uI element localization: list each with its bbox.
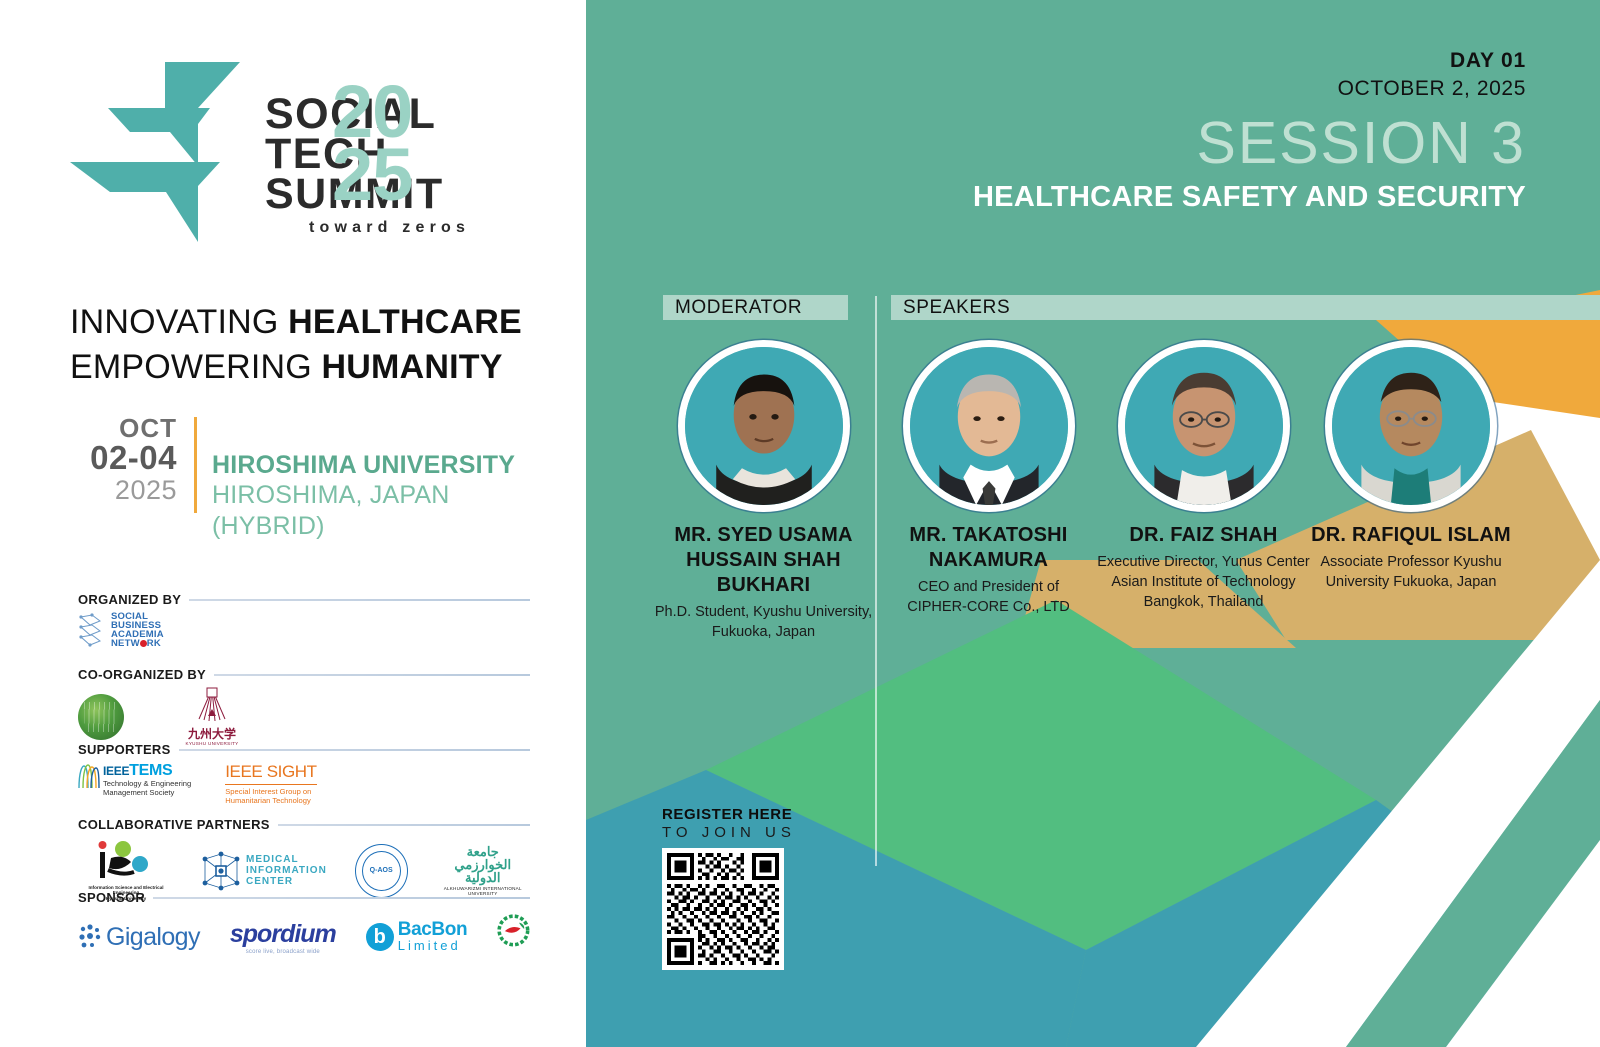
speaker-name-3: DR. RAFIQUL ISLAM: [1311, 523, 1511, 548]
date-venue-block: OCT 02-04 2025 HIROSHIMA UNIVERSITY HIRO…: [72, 415, 552, 515]
speakers-label-bar: SPEAKERS: [891, 295, 1600, 320]
sight-text: SIGHT: [267, 762, 317, 781]
collaborative-partners-header: COLLABORATIVE PARTNERS: [78, 817, 530, 832]
medical-information-center-logo: MEDICAL INFORMATION CENTER: [200, 851, 327, 891]
session-number: SESSION 3: [973, 110, 1526, 176]
spordium-sub: score live, broadcast wide: [230, 949, 336, 955]
spordium-logo: spordium score live, broadcast wide: [230, 920, 336, 955]
event-poster: SOCIAL TECH SUMMIT toward zeros 20 25 IN…: [0, 0, 1600, 1047]
section-rule: [179, 749, 530, 751]
sight-title-line: IEEE SIGHT: [225, 762, 316, 782]
moderator-label-bar: MODERATOR: [663, 295, 848, 320]
speaker-name-1: MR. TAKATOSHI NAKAMURA: [891, 523, 1086, 573]
bacbon-wordmark: BacBon Limited: [398, 921, 467, 953]
speaker-card-2: DR. FAIZ SHAH Executive Director, Yunus …: [1096, 340, 1311, 612]
tems-wordmark: IEEETEMS Technology & Engineering Manage…: [103, 762, 191, 797]
gear-leaf-icon: [497, 914, 530, 947]
speaker-photo-faiz-shah: [1118, 340, 1290, 512]
event-month: OCT: [72, 415, 177, 441]
bacbon-limited-logo: b BacBon Limited: [366, 921, 467, 953]
event-tagline: INNOVATING HEALTHCARE EMPOWERING HUMANIT…: [70, 300, 570, 390]
speaker-affiliation-3: Associate Professor Kyushu University Fu…: [1311, 552, 1511, 592]
organized-by-title: ORGANIZED BY: [78, 592, 181, 607]
section-rule: [153, 897, 530, 899]
moderator-label: MODERATOR: [663, 297, 802, 319]
red-dot-icon: [140, 640, 147, 647]
speaker-portrait-icon: [1332, 347, 1490, 505]
section-rule: [189, 599, 530, 601]
event-year: 2025: [72, 475, 177, 505]
speaker-photo-rafiqul-islam: [1325, 340, 1497, 512]
sponsor-header: SPONSOR: [78, 890, 530, 905]
section-rule: [278, 824, 530, 826]
speakers-label: SPEAKERS: [891, 297, 1010, 319]
section-rule: [214, 674, 530, 676]
sight-rule: [225, 784, 316, 785]
network-mesh-icon: [200, 851, 242, 891]
speaker-portrait-icon: [1125, 347, 1283, 505]
sponsor-section: SPONSOR Gigalogy spordium s: [78, 890, 530, 960]
bacbon-b-icon: b: [366, 923, 394, 951]
mic-line-3: CENTER: [246, 876, 327, 887]
logo-year-bottom: 25: [332, 143, 412, 206]
organized-by-header: ORGANIZED BY: [78, 592, 530, 607]
session-topic: HEALTHCARE SAFETY AND SECURITY: [973, 178, 1526, 216]
sban-rk: RK: [147, 638, 161, 649]
date-venue-divider: [194, 417, 197, 513]
co-organized-by-title: CO-ORGANIZED BY: [78, 667, 206, 682]
tems-sub-2: Management Society: [103, 789, 191, 798]
kyushu-university-logo: 九州大学 KYUSHU UNIVERSITY: [180, 687, 244, 746]
session-date: OCTOBER 2, 2025: [973, 74, 1526, 104]
to-join-us-label: TO JOIN US: [662, 823, 796, 842]
tagline-line-1: INNOVATING HEALTHCARE: [70, 300, 570, 345]
ieee-text: IEEE: [225, 762, 262, 781]
sponsor-title: SPONSOR: [78, 890, 145, 905]
social-business-academia-network-logo: SOCIAL BUSINESS ACADEMIA NETWRK: [78, 612, 164, 648]
bacbon-line-1: BacBon: [398, 921, 467, 939]
sban-netw: NETW: [111, 638, 140, 649]
hiroshima-university-logo: [78, 694, 124, 740]
tagline-empowering: EMPOWERING: [70, 348, 322, 386]
logo-tagline: toward zeros: [309, 219, 470, 237]
register-block[interactable]: REGISTER HERE TO JOIN US: [662, 806, 796, 970]
kyushu-jp-name: 九州大学: [180, 728, 244, 741]
ieee-sight-logo: IEEE SIGHT Special Interest Group on Hum…: [225, 762, 316, 805]
session-day: DAY 01: [973, 48, 1526, 74]
moderator-card: MR. SYED USAMA HUSSAIN SHAH BUKHARI Ph.D…: [646, 340, 881, 642]
tems-waves-icon: [78, 762, 100, 790]
tems-title-line: IEEETEMS: [103, 762, 191, 780]
speaker-affiliation-2: Executive Director, Yunus Center Asian I…: [1096, 552, 1311, 612]
alukhawarizmi-international-university-logo: جامعة الخوارزمي الدولية ALKHUWARIZMI INT…: [436, 845, 530, 896]
event-dates: OCT 02-04 2025: [72, 415, 177, 505]
event-venue: HIROSHIMA UNIVERSITY HIROSHIMA, JAPAN (H…: [212, 450, 552, 542]
speaker-portrait-icon: [910, 347, 1068, 505]
summit-logo: SOCIAL TECH SUMMIT toward zeros 20 25: [70, 62, 540, 277]
tagline-healthcare: HEALTHCARE: [288, 303, 522, 341]
chevron-arrow-logo-icon: [70, 62, 260, 277]
speaker-affiliation-1: CEO and President of CIPHER-CORE Co., LT…: [891, 577, 1086, 617]
mic-line-2: INFORMATION: [246, 865, 327, 876]
mic-line-1: MEDICAL: [246, 854, 327, 865]
session-header: DAY 01 OCTOBER 2, 2025 SESSION 3 HEALTHC…: [973, 48, 1526, 216]
collaborative-partners-section: COLLABORATIVE PARTNERS Information Scien…: [78, 817, 530, 901]
sban-line-4: NETWRK: [111, 639, 164, 648]
speaker-card-1: MR. TAKATOSHI NAKAMURA CEO and President…: [891, 340, 1086, 617]
gigalogy-dots-icon: [78, 924, 104, 950]
bacbon-line-2: Limited: [398, 939, 467, 953]
qr-code-icon[interactable]: [667, 853, 779, 965]
sight-sub-1: Special Interest Group on: [225, 787, 316, 796]
supporters-header: SUPPORTERS: [78, 742, 530, 757]
moderator-portrait-icon: [685, 347, 843, 505]
tems-text: TEMS: [129, 762, 172, 779]
logo-year: 20 25: [332, 80, 412, 206]
moderator-affiliation: Ph.D. Student, Kyushu University, Fukuok…: [646, 602, 881, 642]
tagline-line-2: EMPOWERING HUMANITY: [70, 345, 570, 390]
gigalogy-logo: Gigalogy: [78, 923, 200, 952]
organized-by-logos: SOCIAL BUSINESS ACADEMIA NETWRK: [78, 612, 530, 648]
kyushu-crest-icon: [189, 687, 235, 723]
right-panel: DAY 01 OCTOBER 2, 2025 SESSION 3 HEALTHC…: [586, 0, 1600, 1047]
network-nodes-icon: [78, 613, 108, 647]
left-panel: SOCIAL TECH SUMMIT toward zeros 20 25 IN…: [0, 0, 586, 1047]
ieee-tems-logo: IEEETEMS Technology & Engineering Manage…: [78, 762, 191, 797]
moderator-name: MR. SYED USAMA HUSSAIN SHAH BUKHARI: [646, 523, 881, 598]
isee-figures-icon: [78, 840, 174, 880]
supporters-logos: IEEETEMS Technology & Engineering Manage…: [78, 762, 530, 805]
speaker-card-3: DR. RAFIQUL ISLAM Associate Professor Ky…: [1311, 340, 1511, 592]
organized-by-section: ORGANIZED BY SOCIAL BUSINESS ACADEMIA: [78, 592, 530, 648]
mic-wordmark: MEDICAL INFORMATION CENTER: [246, 854, 327, 887]
moderator-photo: [678, 340, 850, 512]
sponsor-logos: Gigalogy spordium score live, broadcast …: [78, 914, 530, 960]
speaker-photo-nakamura: [903, 340, 1075, 512]
venue-line-1: HIROSHIMA UNIVERSITY: [212, 450, 552, 480]
sight-sub-2: Humanitarian Technology: [225, 796, 316, 805]
qaos-text: Q-AOS: [353, 867, 410, 874]
ieee-text: IEEE: [103, 764, 129, 778]
sban-wordmark: SOCIAL BUSINESS ACADEMIA NETWRK: [111, 612, 164, 648]
register-here-label: REGISTER HERE: [662, 806, 796, 823]
gigalogy-text: Gigalogy: [106, 923, 200, 952]
registration-qr-code[interactable]: [662, 848, 784, 970]
tagline-humanity: HUMANITY: [322, 348, 503, 386]
supporters-title: SUPPORTERS: [78, 742, 171, 757]
alu-arabic-3: الدولية: [436, 871, 530, 884]
event-days: 02-04: [72, 441, 177, 475]
tagline-innovating: INNOVATING: [70, 303, 288, 341]
spordium-text: spordium: [230, 920, 336, 949]
speaker-name-2: DR. FAIZ SHAH: [1096, 523, 1311, 548]
supporters-section: SUPPORTERS IEEETEMS Technology & Enginee…: [78, 742, 530, 805]
co-organized-by-section: CO-ORGANIZED BY 九州大学 KYUSHU UNIVERSITY: [78, 667, 530, 746]
bangladesh-sponsor-gear-logo: [497, 914, 530, 960]
collaborative-partners-title: COLLABORATIVE PARTNERS: [78, 817, 270, 832]
venue-line-2: HIROSHIMA, JAPAN (HYBRID): [212, 480, 552, 542]
co-organized-by-header: CO-ORGANIZED BY: [78, 667, 530, 682]
co-organized-by-logos: 九州大学 KYUSHU UNIVERSITY: [78, 687, 530, 746]
